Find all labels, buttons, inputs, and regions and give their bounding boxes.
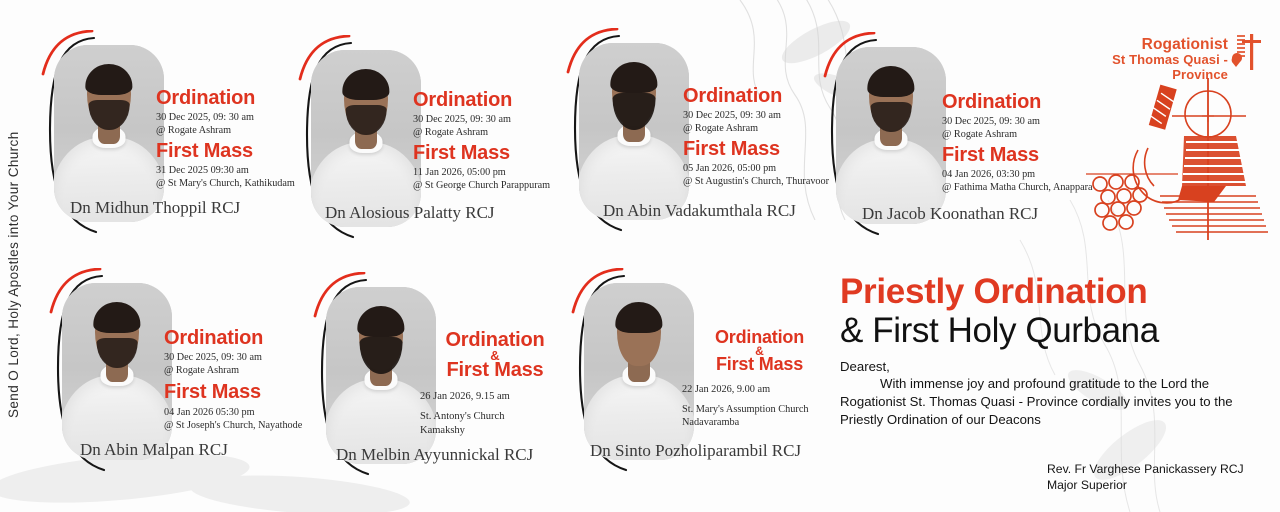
deacon-name: Dn Jacob Koonathan RCJ [862, 204, 1038, 224]
deacon-card[interactable]: Ordination & First Mass 22 Jan 2026, 9.0… [570, 268, 845, 468]
ordination-venue: @ Rogate Ashram [156, 124, 295, 137]
logo-line1: Rogationist [1058, 36, 1228, 53]
firstmass-datetime: 31 Dec 2025 09:30 am [156, 164, 295, 177]
firstmass-heading: First Mass [164, 382, 302, 403]
ordination-venue: @ Rogate Ashram [413, 126, 550, 139]
invitation-body-text: With immense joy and profound gratitude … [840, 376, 1233, 427]
deacon-name: Dn Abin Malpan RCJ [80, 440, 228, 460]
deacon-card[interactable]: Ordination 30 Dec 2025, 09: 30 am @ Roga… [565, 28, 845, 228]
deacon-card[interactable]: Ordination 30 Dec 2025, 09: 30 am @ Roga… [40, 30, 310, 230]
motto-vertical-text: Send O Lord, Holy Apostles into Your Chu… [6, 118, 21, 418]
ordination-datetime: 30 Dec 2025, 09: 30 am [413, 113, 550, 126]
deacon-name: Dn Sinto Pozholiparambil RCJ [590, 441, 801, 461]
page-title-red: Priestly Ordination [840, 274, 1270, 309]
firstmass-heading: First Mass [683, 139, 829, 160]
event-venue-line1: St. Antony's Church [420, 410, 570, 423]
firstmass-datetime: 11 Jan 2026, 05:00 pm [413, 166, 550, 179]
firstmass-heading: First Mass [420, 360, 570, 381]
province-logo[interactable]: Rogationist St Thomas Quasi - Province [1058, 28, 1270, 243]
deacon-photo [311, 50, 421, 227]
invitation-text-block: Priestly Ordination & First Holy Qurbana… [840, 274, 1270, 429]
ordination-datetime: 30 Dec 2025, 09: 30 am [164, 351, 302, 364]
event-venue-line2: Kamakshy [420, 424, 570, 437]
invitation-body: With immense joy and profound gratitude … [840, 375, 1270, 429]
page-title-black: & First Holy Qurbana [840, 311, 1270, 350]
event-datetime: 22 Jan 2026, 9.00 am [682, 383, 837, 396]
deacon-card[interactable]: Ordination & First Mass 26 Jan 2026, 9.1… [312, 272, 587, 472]
ordination-heading: Ordination [683, 86, 829, 107]
salutation: Dearest, [840, 359, 1270, 374]
firstmass-venue: @ St Augustin's Church, Thuravoor [683, 175, 829, 188]
firstmass-datetime: 04 Jan 2026 05:30 pm [164, 406, 302, 419]
signature-title: Major Superior [1047, 477, 1244, 493]
deacon-card[interactable]: Ordination 30 Dec 2025, 09: 30 am @ Roga… [48, 268, 318, 468]
deacon-name: Dn Abin Vadakumthala RCJ [603, 201, 796, 221]
ordination-heading: Ordination [413, 90, 550, 111]
firstmass-heading: First Mass [682, 355, 837, 374]
ordination-datetime: 30 Dec 2025, 09: 30 am [156, 111, 295, 124]
signature-name: Rev. Fr Varghese Panickassery RCJ [1047, 461, 1244, 477]
firstmass-venue: @ St Mary's Church, Kathikudam [156, 177, 295, 190]
event-venue-line1: St. Mary's Assumption Church [682, 403, 837, 416]
logo-text: Rogationist St Thomas Quasi - Province [1058, 36, 1228, 82]
rogationist-emblem-icon [1086, 78, 1271, 240]
cross-icon [1228, 30, 1262, 74]
firstmass-heading: First Mass [413, 143, 550, 164]
ordination-venue: @ Rogate Ashram [683, 122, 829, 135]
invitation-canvas: Send O Lord, Holy Apostles into Your Chu… [0, 0, 1280, 512]
firstmass-datetime: 05 Jan 2026, 05:00 pm [683, 162, 829, 175]
event-datetime: 26 Jan 2026, 9.15 am [420, 390, 570, 403]
deacon-photo [579, 43, 689, 220]
deacon-name: Dn Midhun Thoppil RCJ [70, 198, 240, 218]
deacon-photo [54, 45, 164, 222]
firstmass-venue: @ St Joseph's Church, Nayathode [164, 419, 302, 432]
event-venue-line2: Nadavaramba [682, 416, 837, 429]
deacon-name: Dn Melbin Ayyunnickal RCJ [336, 445, 533, 465]
signature-block: Rev. Fr Varghese Panickassery RCJ Major … [1047, 461, 1244, 493]
ordination-venue: @ Rogate Ashram [164, 364, 302, 377]
deacon-name: Dn Alosious Palatty RCJ [325, 203, 495, 223]
ordination-heading: Ordination [164, 328, 302, 349]
firstmass-venue: @ St George Church Parappuram [413, 179, 550, 192]
deacon-photo [62, 283, 172, 460]
deacon-photo [584, 283, 694, 460]
firstmass-heading: First Mass [156, 141, 295, 162]
deacon-card[interactable]: Ordination 30 Dec 2025, 09: 30 am @ Roga… [297, 35, 567, 235]
ordination-heading: Ordination [156, 88, 295, 109]
ordination-datetime: 30 Dec 2025, 09: 30 am [683, 109, 829, 122]
deacon-photo [836, 47, 946, 224]
